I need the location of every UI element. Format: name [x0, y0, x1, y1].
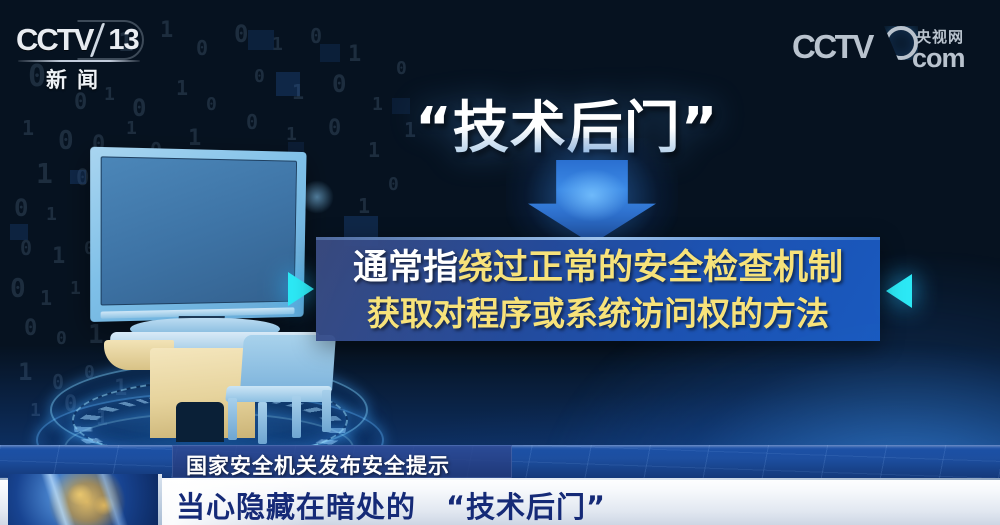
headline-text: 当心隐藏在暗处的 “技术后门”: [176, 484, 606, 525]
cctv13-channel-logo: CCTV 13 新闻: [16, 22, 144, 86]
broadcast-frame: 0110010101001011010010101010011010010100…: [0, 0, 1000, 525]
definition-banner: 通常指绕过正常的安全检查机制 获取对程序或系统访问权的方法: [316, 237, 880, 341]
chair-leg: [322, 390, 331, 432]
globe-icon: [8, 474, 160, 525]
kicker-text: 国家安全机关发布安全提示: [186, 450, 450, 480]
monitor-icon: [90, 147, 306, 322]
logo-underline: [18, 60, 140, 62]
channel-name-chinese: 新闻: [46, 64, 108, 94]
globe-divider: [158, 474, 162, 525]
chair-leg: [292, 396, 301, 438]
banner-line-1: 通常指绕过正常的安全检查机制: [316, 251, 880, 286]
triangle-right-icon: [288, 272, 314, 306]
arrow-down-icon: [528, 160, 656, 244]
cctv-com-domain: com: [912, 43, 965, 74]
chair-leg: [258, 402, 267, 444]
banner-line-2: 获取对程序或系统访问权的方法: [316, 297, 880, 330]
globe-light-streak: [8, 474, 160, 525]
desk-footwell: [176, 402, 224, 442]
banner-line-2-highlight: 获取对程序或系统访问权的方法: [367, 294, 829, 333]
chair-backrest: [240, 335, 336, 391]
cctv-com-logo: CCTV 央视网 com: [792, 24, 982, 72]
ambient-sparkle: [300, 180, 334, 214]
banner-line-1-prefix: 通常指: [353, 248, 458, 288]
chair-leg: [228, 398, 237, 440]
triangle-left-icon: [886, 274, 912, 308]
monitor-screen: [101, 156, 297, 305]
cctv-com-wordmark: CCTV: [792, 28, 872, 66]
chair-seat: [225, 386, 332, 402]
banner-line-1-highlight: 绕过正常的安全检查机制: [458, 248, 843, 288]
